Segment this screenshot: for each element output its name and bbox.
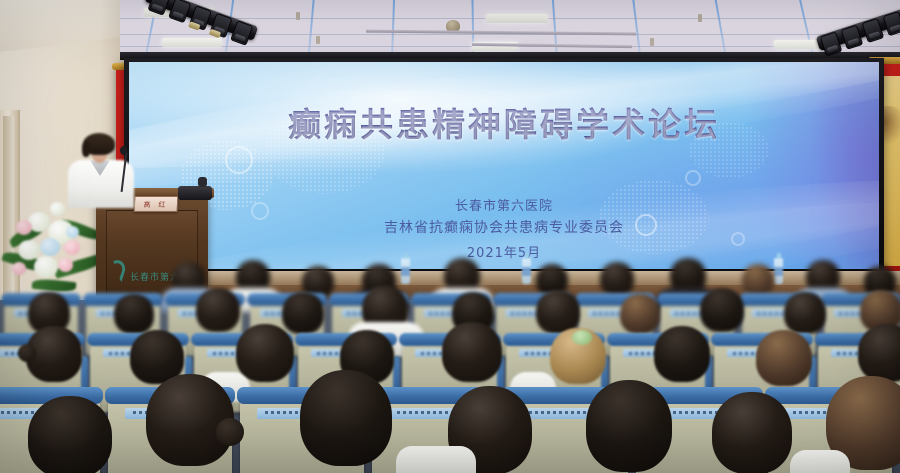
conference-hall-photo: 严 谨 敬 业 — [0, 0, 900, 473]
sprinkler-head-icon — [698, 14, 702, 22]
decorative-ring — [225, 146, 253, 174]
sprinkler-head-icon — [296, 12, 300, 20]
projection-screen-frame: 癫痫共患精神障碍学术论坛 长春市第六医院 吉林省抗癫痫协会共患病专业委员会 20… — [124, 58, 884, 273]
microphone-capsule — [198, 177, 207, 187]
microphone-base — [178, 186, 212, 200]
water-bottle — [774, 258, 783, 284]
slide-title: 癫痫共患精神障碍学术论坛 — [129, 98, 879, 146]
sprinkler-head-icon — [650, 38, 654, 46]
microphone-head — [120, 146, 127, 155]
slide-date: 2021年5月 — [129, 242, 879, 261]
water-bottle — [522, 258, 531, 284]
ceiling-lamp — [486, 14, 548, 23]
projection-screen: 癫痫共患精神障碍学术论坛 长春市第六医院 吉林省抗癫痫协会共患病专业委员会 20… — [129, 62, 879, 269]
sprinkler-head-icon — [316, 36, 320, 44]
nameplate-text: 高 红 — [135, 200, 178, 210]
water-bottle — [401, 258, 410, 284]
speaker-nameplate: 高 红 — [134, 196, 179, 212]
speaker-hair — [83, 133, 115, 155]
slide-org-line-1: 长春市第六医院 — [129, 195, 879, 214]
decorative-ring — [685, 170, 701, 186]
slide-org-line-2: 吉林省抗癫痫协会共患病专业委员会 — [129, 217, 879, 237]
